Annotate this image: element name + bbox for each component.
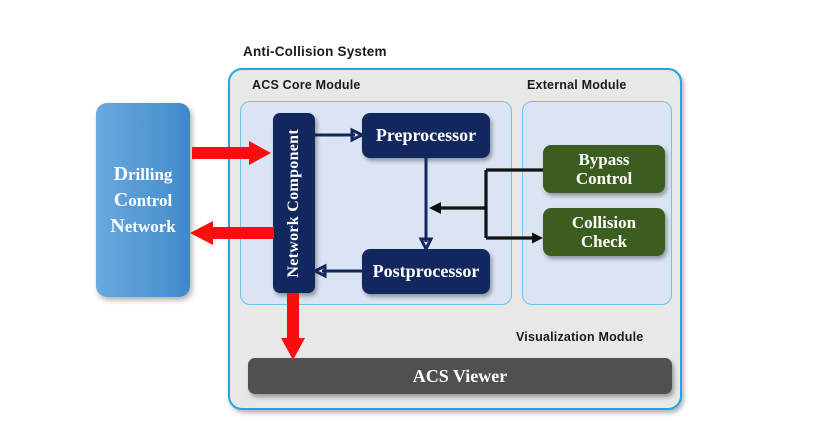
preprocessor-label: Preprocessor [376, 125, 476, 146]
network-component-node[interactable]: Network Component [273, 113, 315, 293]
collision-check-node[interactable]: Collision Check [543, 208, 665, 256]
acs-viewer-label: ACS Viewer [413, 366, 507, 387]
drilling-control-network-node[interactable]: DrillingControlNetwork [96, 103, 190, 297]
visualization-module-label: Visualization Module [516, 330, 643, 344]
bypass-control-node[interactable]: Bypass Control [543, 145, 665, 193]
preprocessor-node[interactable]: Preprocessor [362, 113, 490, 158]
acs-viewer-node[interactable]: ACS Viewer [248, 358, 672, 394]
diagram-canvas: Anti-Collision System ACS Core Module Ex… [0, 0, 822, 446]
postprocessor-node[interactable]: Postprocessor [362, 249, 490, 294]
external-module-label: External Module [527, 78, 627, 92]
system-title: Anti-Collision System [243, 44, 387, 59]
drilling-control-network-label: DrillingControlNetwork [110, 161, 175, 239]
postprocessor-label: Postprocessor [373, 261, 480, 282]
bypass-control-label: Bypass Control [576, 150, 632, 188]
external-module-panel [522, 101, 672, 305]
acs-core-module-label: ACS Core Module [252, 78, 361, 92]
collision-check-label: Collision Check [572, 213, 636, 251]
network-component-label: Network Component [286, 129, 303, 278]
